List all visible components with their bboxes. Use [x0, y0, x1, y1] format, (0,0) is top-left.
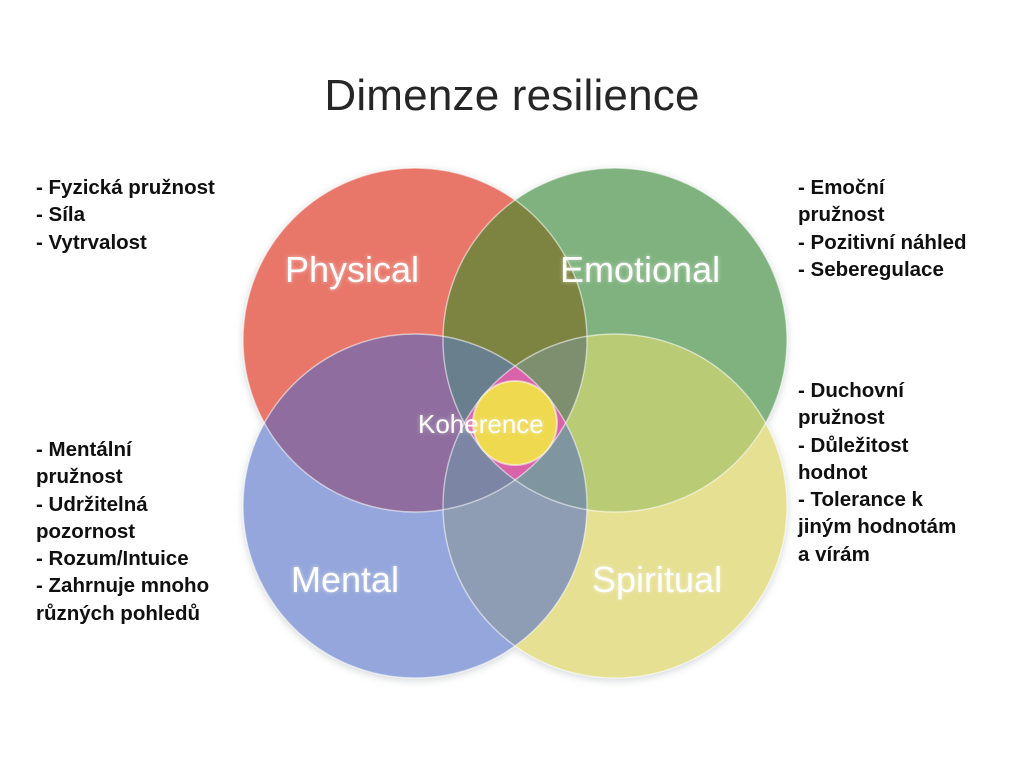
label-emotional: Emotional — [560, 252, 720, 288]
label-physical: Physical — [285, 252, 419, 288]
notes-mental: - Mentální pružnost - Udržitelná pozorno… — [36, 436, 281, 627]
slide-canvas: Dimenze resilience — [0, 0, 1024, 768]
label-spiritual: Spiritual — [592, 562, 722, 598]
notes-emotional: - Emoční pružnost - Pozitivní náhled - S… — [798, 174, 1020, 283]
page-title: Dimenze resilience — [0, 74, 1024, 118]
label-koherence: Koherence — [418, 411, 544, 437]
label-mental: Mental — [291, 562, 399, 598]
notes-physical: - Fyzická pružnost - Síla - Vytrvalost — [36, 174, 276, 256]
notes-spiritual: - Duchovní pružnost - Důležitost hodnot … — [798, 377, 1020, 568]
